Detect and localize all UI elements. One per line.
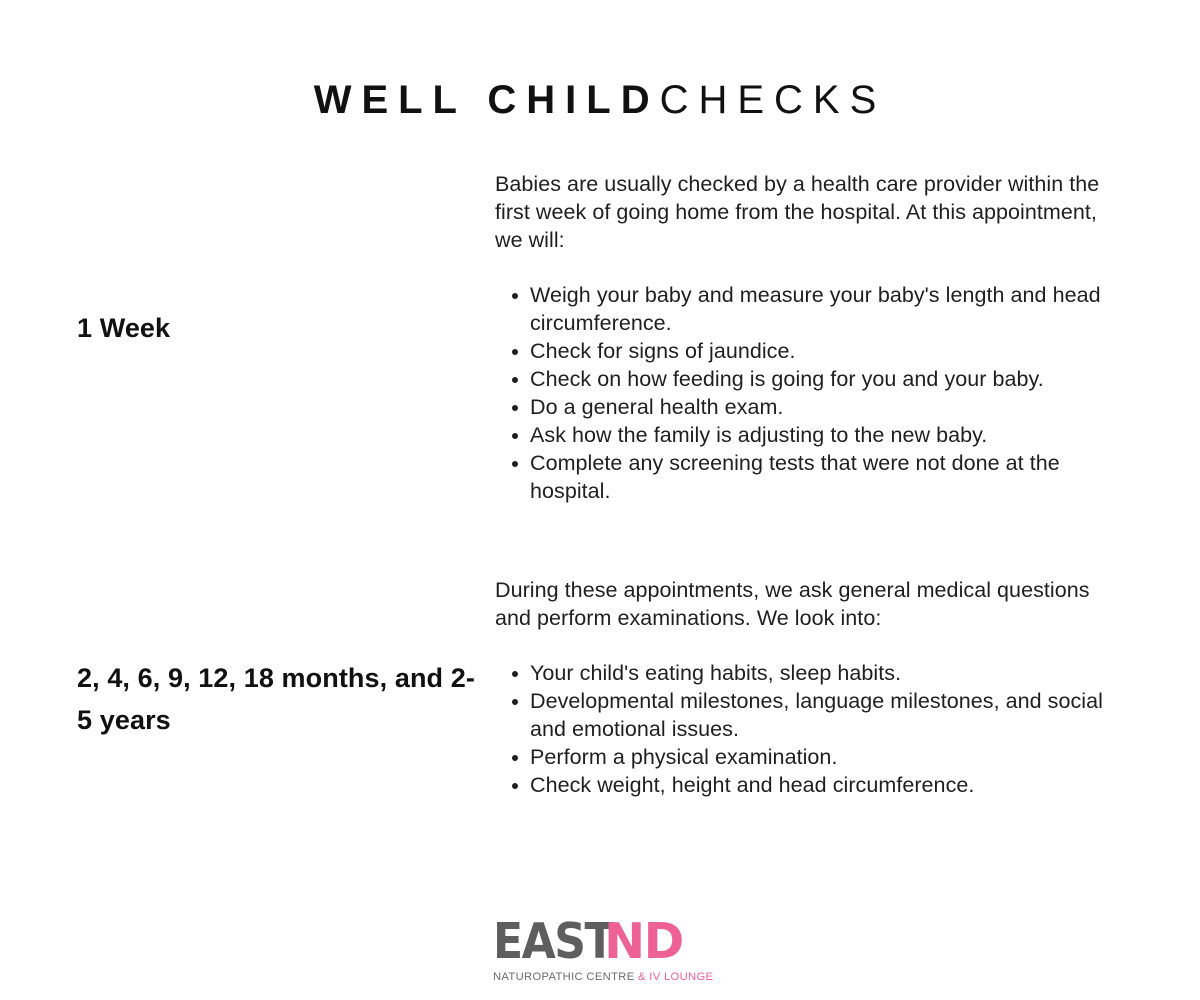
list-item: Ask how the family is adjusting to the n… [495, 421, 1120, 449]
section-intro-months-years: During these appointments, we ask genera… [495, 576, 1120, 632]
page-title-light: CHECKS [660, 78, 887, 122]
page-title: WELL CHILDCHECKS [0, 78, 1200, 122]
brand-tagline-primary: NATUROPATHIC CENTRE [493, 971, 638, 983]
page-title-text: WELL CHILDCHECKS [314, 78, 887, 122]
section-intro-one-week: Babies are usually checked by a health c… [495, 170, 1120, 254]
page-title-strong: WELL CHILD [314, 78, 660, 122]
bullet-list-months-years: Your child's eating habits, sleep habits… [495, 659, 1120, 799]
list-item: Weigh your baby and measure your baby's … [495, 281, 1120, 337]
list-item: Check for signs of jaundice. [495, 337, 1120, 365]
page-root: WELL CHILDCHECKS 1 Week Babies are usual… [0, 0, 1200, 1000]
list-item: Check on how feeding is going for you an… [495, 365, 1120, 393]
list-item: Complete any screening tests that were n… [495, 449, 1120, 505]
list-item: Developmental milestones, language miles… [495, 687, 1120, 743]
brand-logo-tagline: NATUROPATHIC CENTRE & IV LOUNGE [493, 971, 709, 983]
brand-logo-east: EAST [493, 913, 613, 970]
list-item: Check weight, height and head circumfere… [495, 771, 1120, 799]
section-label-months-years: 2, 4, 6, 9, 12, 18 months, and 2-5 years [77, 658, 477, 742]
brand-logo: EASTND NATUROPATHIC CENTRE & IV LOUNGE [493, 918, 709, 983]
section-label-one-week: 1 Week [77, 308, 477, 350]
brand-tagline-accent: & IV LOUNGE [638, 971, 713, 983]
list-item: Do a general health exam. [495, 393, 1120, 421]
bullet-list-one-week: Weigh your baby and measure your baby's … [495, 281, 1120, 505]
brand-logo-nd: ND [604, 913, 683, 970]
section-body-months-years: During these appointments, we ask genera… [495, 576, 1120, 799]
list-item: Your child's eating habits, sleep habits… [495, 659, 1120, 687]
brand-logo-wordmark: EASTND [493, 918, 709, 966]
section-body-one-week: Babies are usually checked by a health c… [495, 170, 1120, 505]
list-item: Perform a physical examination. [495, 743, 1120, 771]
